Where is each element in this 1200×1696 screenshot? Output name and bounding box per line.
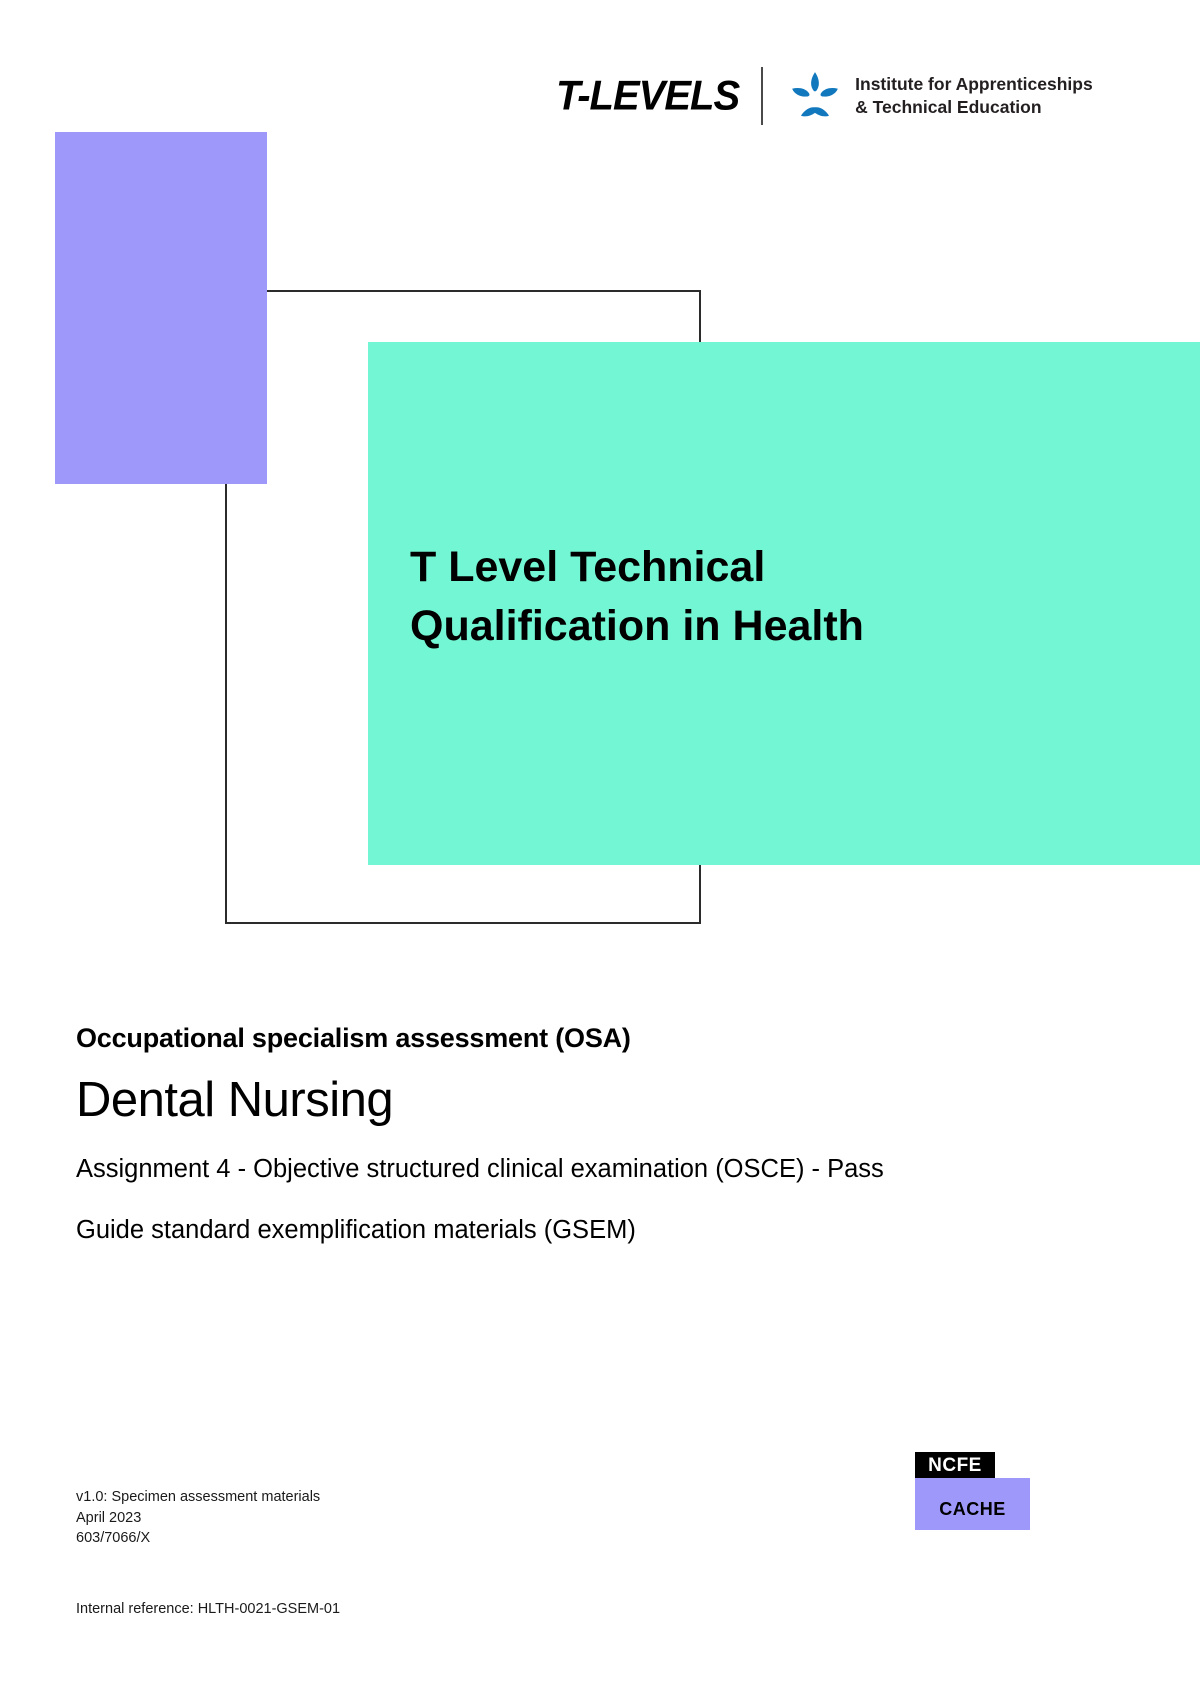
cover-title-line2: Qualification in Health (410, 597, 1010, 656)
ncfe-cache-logo: NCFE CACHE (915, 1452, 1030, 1530)
ifate-logo-line1: Institute for Apprenticeships (855, 73, 1093, 96)
document-page: T-LEVELS Institute for Apprenticeships &… (0, 0, 1200, 1696)
version-text: v1.0: Specimen assessment materials (76, 1487, 320, 1508)
materials-type-label: Guide standard exemplification materials… (76, 1213, 976, 1248)
cover-title-line1: T Level Technical (410, 538, 1010, 597)
ifate-logo: Institute for Apprenticeships & Technica… (789, 70, 1093, 122)
cover-title: T Level Technical Qualification in Healt… (410, 538, 1010, 657)
qualification-number-text: 603/7066/X (76, 1528, 320, 1549)
cache-wordmark: CACHE (915, 1500, 1030, 1518)
outline-line-bottom (225, 922, 701, 924)
internal-reference-text: Internal reference: HLTH-0021-GSEM-01 (76, 1599, 340, 1620)
date-text: April 2023 (76, 1508, 320, 1529)
cover-details: Occupational specialism assessment (OSA)… (76, 1022, 976, 1248)
outline-line-top (267, 290, 701, 292)
ifate-logo-text: Institute for Apprenticeships & Technica… (855, 73, 1093, 119)
purple-decorative-rectangle (55, 132, 267, 484)
outline-line-left (225, 484, 227, 924)
logo-divider (761, 67, 763, 125)
document-metadata: v1.0: Specimen assessment materials Apri… (76, 1487, 320, 1549)
assignment-label: Assignment 4 - Objective structured clin… (76, 1152, 936, 1187)
page-title: Dental Nursing (76, 1074, 976, 1128)
ncfe-wordmark: NCFE (915, 1452, 995, 1478)
t-levels-logo: T-LEVELS (556, 75, 761, 117)
osa-label: Occupational specialism assessment (OSA) (76, 1022, 976, 1056)
header-logo-group: T-LEVELS Institute for Apprenticeships &… (556, 60, 1093, 132)
ifate-flower-icon (789, 70, 841, 122)
ifate-logo-line2: & Technical Education (855, 96, 1093, 119)
